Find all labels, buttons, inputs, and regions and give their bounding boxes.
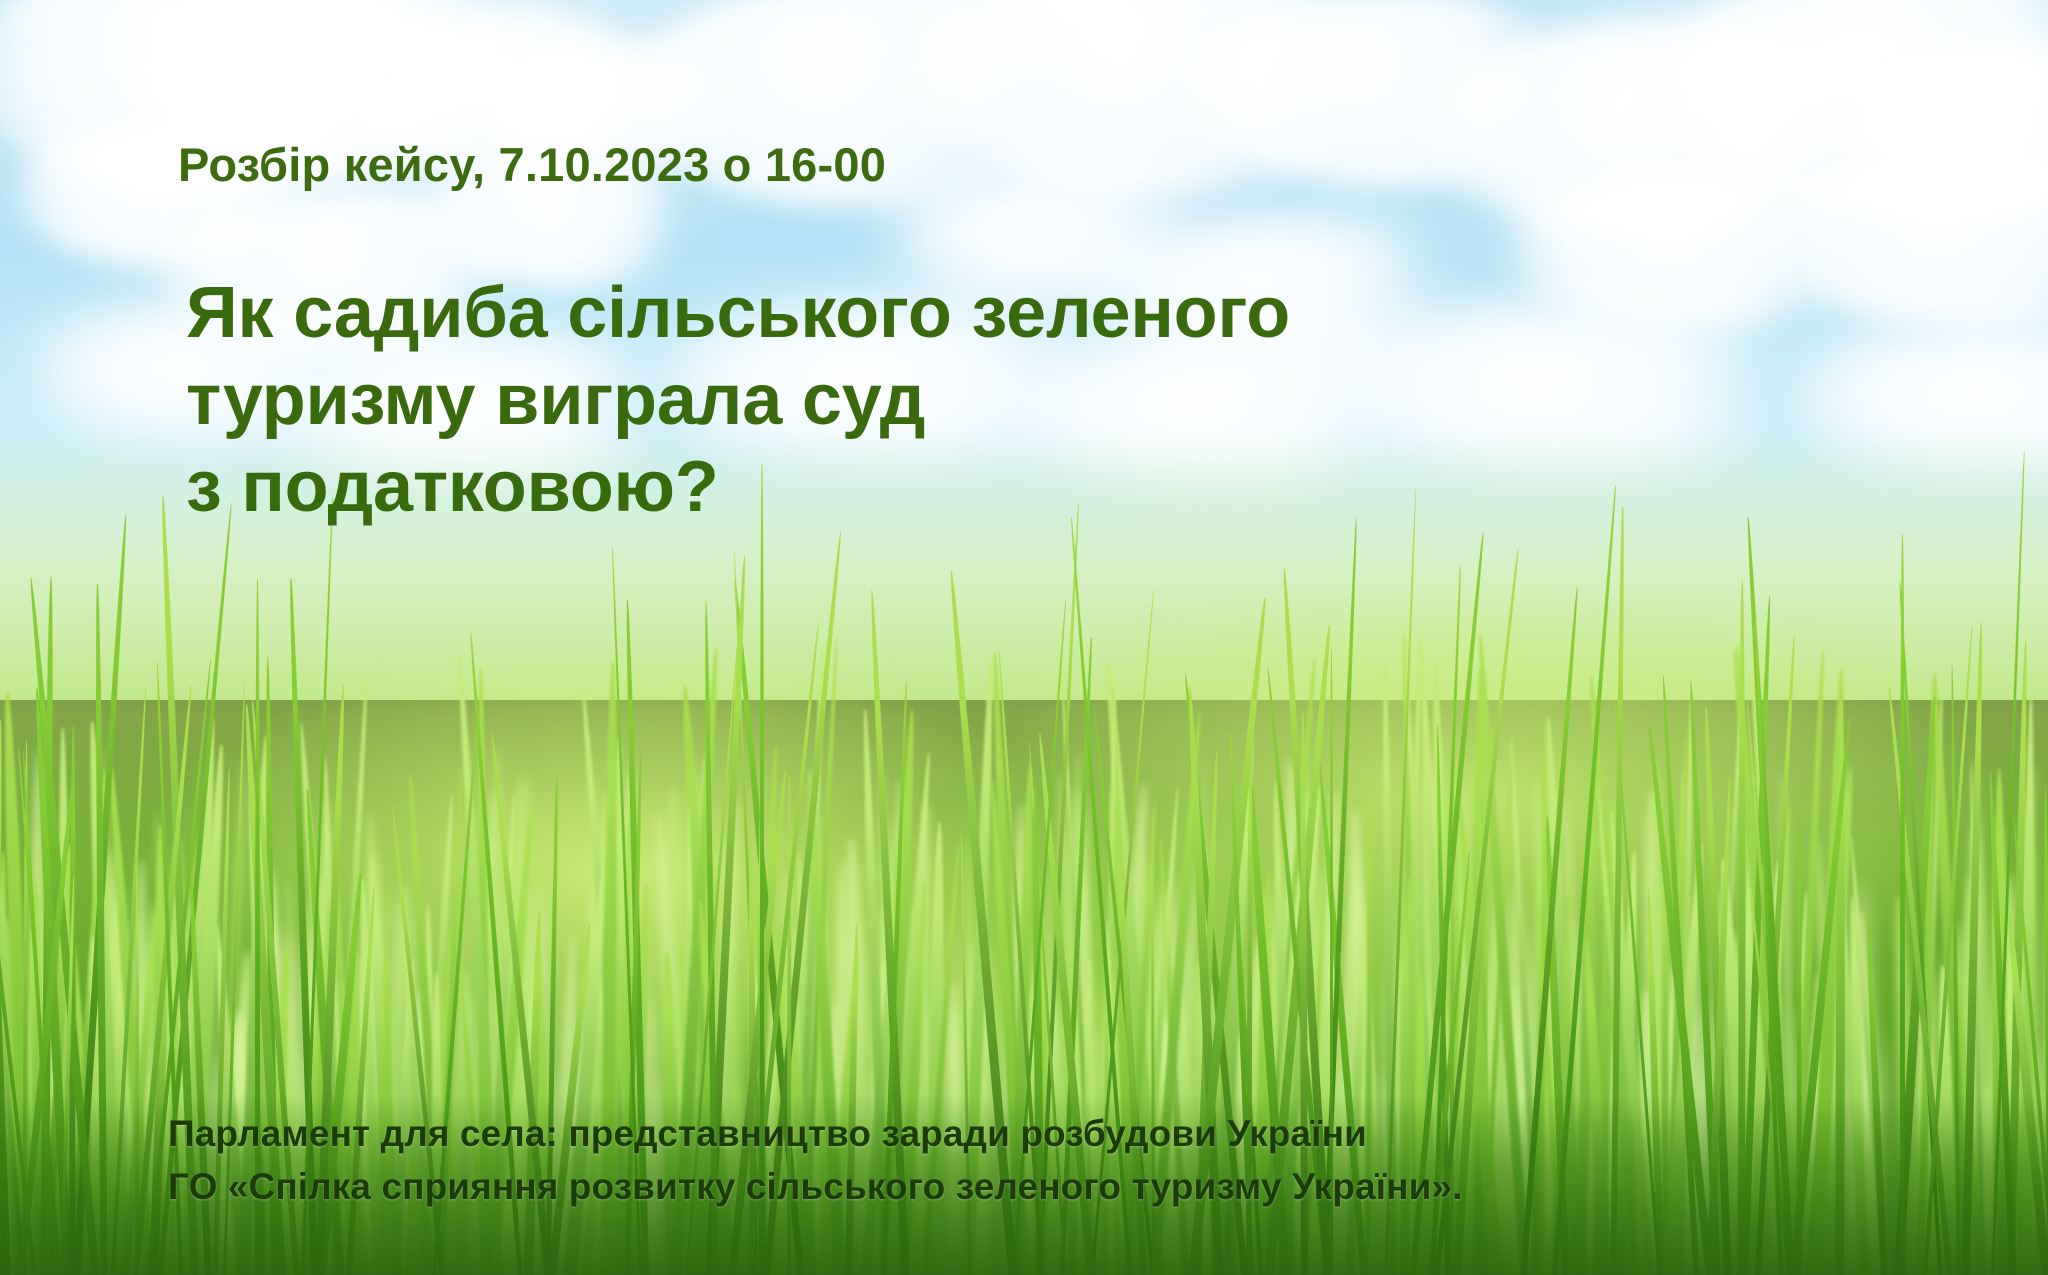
footer-line-2: ГО «Спілка сприяння розвитку сільського … bbox=[168, 1161, 1463, 1214]
headline-line-1: Як садиба сільського зеленого bbox=[186, 270, 1290, 357]
slide-banner: Розбір кейсу, 7.10.2023 о 16-00 Як садиб… bbox=[0, 0, 2048, 1275]
headline-line-3: з податковою? bbox=[186, 444, 1290, 531]
event-kicker: Розбір кейсу, 7.10.2023 о 16-00 bbox=[178, 137, 886, 192]
footer-credits: Парламент для села: представництво зарад… bbox=[168, 1108, 1463, 1213]
footer-line-1: Парламент для села: представництво зарад… bbox=[168, 1108, 1463, 1161]
headline-line-2: туризму виграла суд bbox=[186, 357, 1290, 444]
headline: Як садиба сільського зеленого туризму ви… bbox=[186, 270, 1290, 531]
